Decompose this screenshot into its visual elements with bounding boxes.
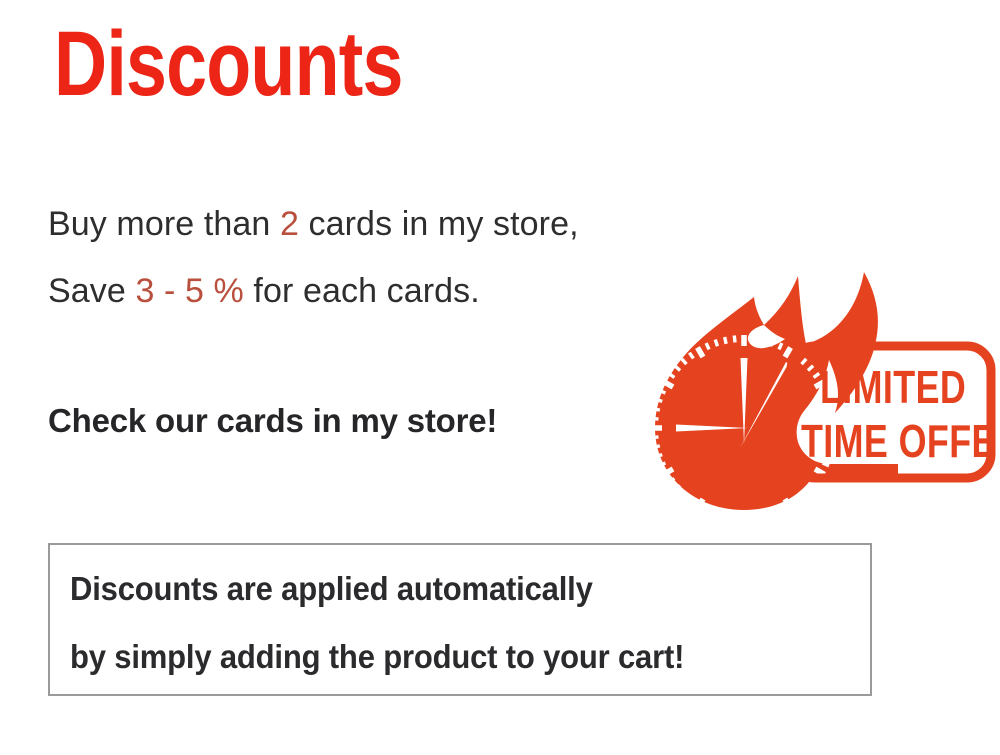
promo-banner: Discounts Buy more than 2 cards in my st…: [0, 0, 1000, 755]
cta-text: Check our cards in my store!: [48, 402, 497, 440]
offer-line-quantity-suffix: cards in my store,: [299, 205, 579, 243]
offer-line-quantity-prefix: Buy more than: [48, 205, 280, 243]
note-line-2: by simply adding the product to your car…: [70, 638, 684, 676]
page-title: Discounts: [54, 16, 403, 112]
offer-line-quantity: Buy more than 2 cards in my store,: [48, 204, 579, 244]
flame-clock-icon: LIMITED TIME OFFER: [598, 268, 998, 520]
offer-line-savings: Save 3 - 5 % for each cards.: [48, 271, 480, 311]
offer-line-savings-suffix: for each cards.: [244, 272, 480, 310]
badge-label-time-offer: TIME OFFER: [801, 416, 998, 467]
limited-time-offer-badge: LIMITED TIME OFFER: [598, 268, 998, 520]
badge-label-limited: LIMITED: [820, 362, 966, 413]
offer-line-savings-prefix: Save: [48, 272, 135, 310]
offer-savings-value: 3 - 5 %: [135, 272, 243, 310]
offer-quantity-value: 2: [280, 205, 299, 243]
note-line-1: Discounts are applied automatically: [70, 570, 593, 608]
auto-discount-note-box: Discounts are applied automatically by s…: [48, 543, 872, 696]
